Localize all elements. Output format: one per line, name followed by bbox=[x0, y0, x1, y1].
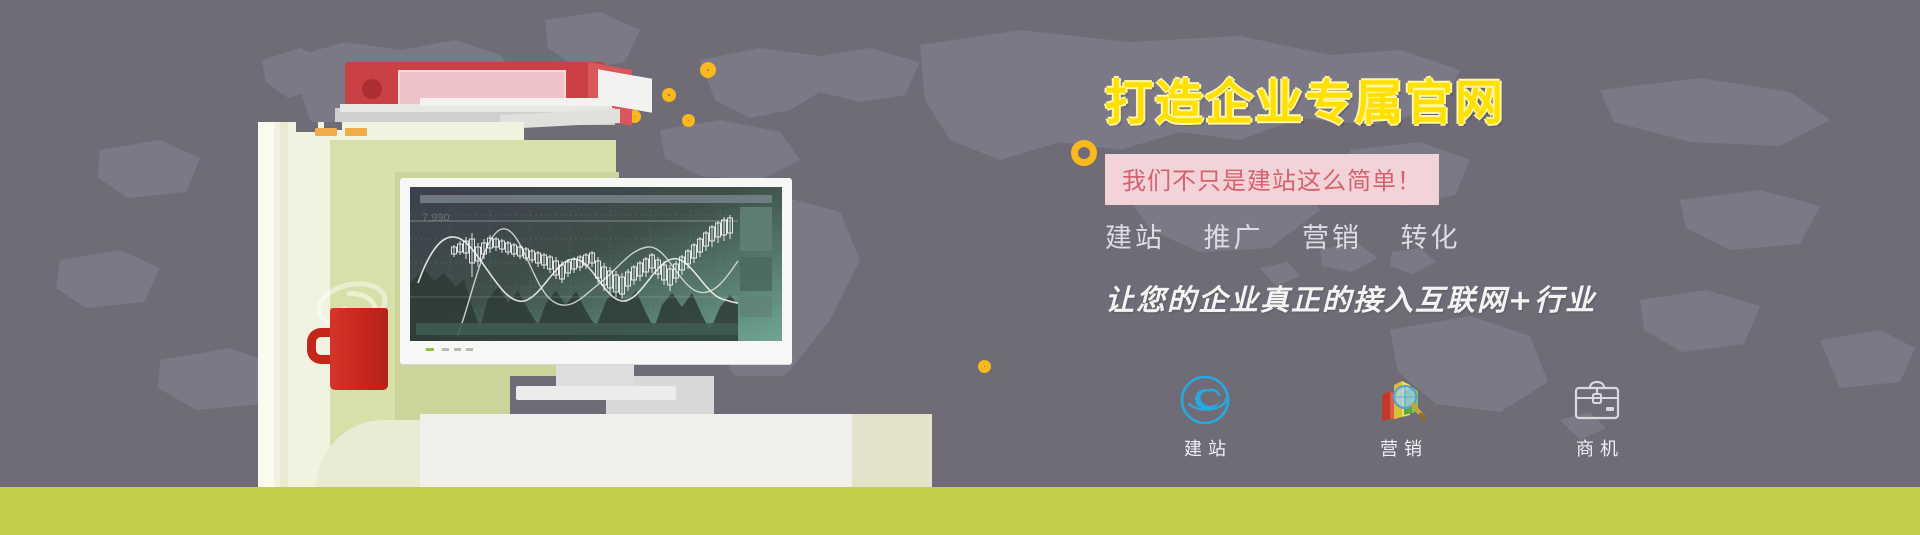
paper-sheet bbox=[420, 98, 620, 106]
keyword-item: 转化 bbox=[1401, 223, 1461, 253]
finance-chart-svg: 7,990 bbox=[410, 187, 782, 341]
monitor-stand-base bbox=[516, 386, 676, 400]
feature-item-shangji[interactable]: 商机 bbox=[1542, 372, 1652, 461]
promo-banner: 7,990 bbox=[0, 0, 1920, 535]
desk-surface bbox=[420, 414, 852, 488]
keyword-item: 营销 bbox=[1302, 223, 1362, 253]
chart-magnifier-icon bbox=[1346, 372, 1456, 428]
folder-tab bbox=[315, 128, 337, 136]
feature-label: 商机 bbox=[1542, 435, 1652, 461]
folder-spine bbox=[258, 122, 274, 488]
monitor-power-led bbox=[426, 348, 434, 351]
computer-monitor: 7,990 bbox=[400, 178, 792, 364]
keyword-item: 建站 bbox=[1105, 223, 1165, 253]
coffee-mug bbox=[330, 308, 388, 390]
briefcase-icon bbox=[1542, 372, 1652, 428]
feature-label: 建站 bbox=[1150, 435, 1260, 461]
feature-item-jianzhan[interactable]: 建站 bbox=[1150, 372, 1260, 461]
monitor-indicator bbox=[466, 348, 473, 351]
subtitle: 我们不只是建站这么简单！ bbox=[1105, 154, 1439, 205]
folder-spine bbox=[280, 122, 288, 488]
monitor-indicator bbox=[454, 348, 461, 351]
ring-decoration-icon bbox=[1071, 140, 1097, 166]
internet-explorer-icon bbox=[1150, 372, 1260, 428]
binder-ring-dot bbox=[362, 79, 382, 99]
svg-text:7,990: 7,990 bbox=[422, 212, 450, 224]
feature-item-yingxiao[interactable]: 营销 bbox=[1346, 372, 1456, 461]
monitor-indicator bbox=[442, 348, 449, 351]
monitor-stand-neck bbox=[556, 364, 634, 388]
keyword-item: 推广 bbox=[1204, 223, 1264, 253]
tagline: 让您的企业真正的接入互联网+行业 bbox=[1105, 277, 1805, 319]
folder-tab bbox=[345, 128, 367, 136]
desk-workspace-illustration: 7,990 bbox=[0, 0, 1020, 535]
feature-icon-row: 建站 营销 bbox=[1150, 372, 1652, 461]
monitor-screen: 7,990 bbox=[410, 187, 782, 341]
subtitle-row: 我们不只是建站这么简单！ bbox=[1105, 154, 1805, 194]
desk-surface-edge bbox=[852, 414, 932, 488]
feature-label: 营销 bbox=[1346, 435, 1456, 461]
headline: 打造企业专属官网 bbox=[1105, 80, 1805, 128]
keyword-list: 建站 推广 营销 转化 bbox=[1105, 216, 1805, 255]
